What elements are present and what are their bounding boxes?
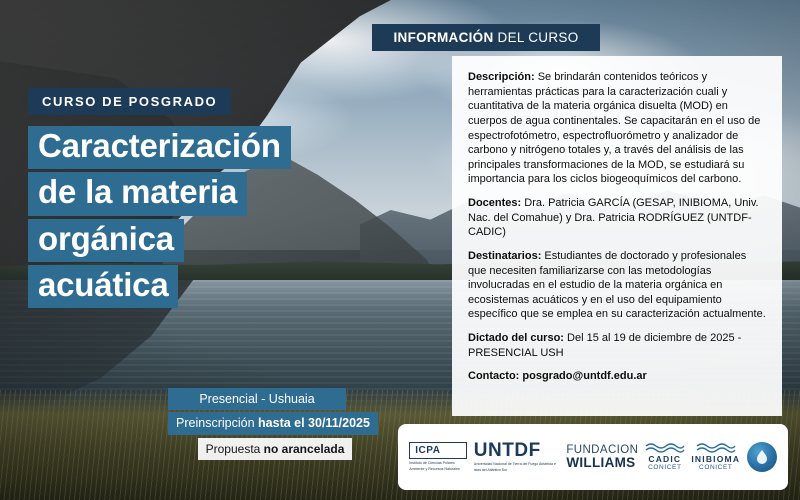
destinatarios-paragraph: Destinatarios: Estudiantes de doctorado … bbox=[468, 249, 766, 322]
dictado-paragraph: Dictado del curso: Del 15 al 19 de dicie… bbox=[468, 331, 766, 360]
wave-icon-2 bbox=[696, 442, 736, 453]
logo-cadic-name: CADIC bbox=[645, 454, 685, 464]
logo-icpa-subtitle: Instituto de Ciencias Polares Ambiente y… bbox=[409, 461, 467, 471]
info-header-rest: DEL CURSO bbox=[498, 30, 579, 45]
logo-cadic-sub: CONICET bbox=[645, 464, 685, 472]
logo-inibioma-conicet: INIBIOMA CONICET bbox=[691, 442, 740, 472]
poster-title: Caracterización de la materia orgánica a… bbox=[28, 126, 368, 311]
course-info-panel: Descripción: Se brindarán contenidos teó… bbox=[452, 56, 782, 416]
kicker-label: CURSO DE POSGRADO bbox=[28, 88, 231, 115]
badge-propuesta: Propuesta no arancelada bbox=[198, 438, 352, 460]
sponsor-logo-strip: ICPA Instituto de Ciencias Polares Ambie… bbox=[398, 424, 788, 490]
circular-emblem-icon bbox=[747, 442, 777, 472]
contacto-paragraph: Contacto: posgrado@untdf.edu.ar bbox=[468, 369, 766, 384]
logo-circular-emblem bbox=[747, 442, 777, 472]
info-header-strong: INFORMACIÓN bbox=[393, 30, 493, 45]
logo-icpa-acronym: ICPA bbox=[409, 442, 467, 459]
propuesta-prefix: Propuesta bbox=[206, 442, 264, 456]
badge-preinscripcion: Preinscripción hasta el 30/11/2025 bbox=[168, 412, 378, 435]
badge-presencial: Presencial - Ushuaia bbox=[168, 388, 346, 410]
info-header-bar: INFORMACIÓN DEL CURSO bbox=[372, 24, 600, 51]
dictado-label: Dictado del curso: bbox=[468, 332, 564, 344]
title-line-2: de la materia bbox=[28, 172, 247, 215]
destinatarios-label: Destinatarios: bbox=[468, 250, 541, 262]
logo-icpa: ICPA Instituto de Ciencias Polares Ambie… bbox=[409, 442, 467, 471]
preinscripcion-prefix: Preinscripción bbox=[176, 416, 258, 430]
descripcion-text: Se brindarán contenidos teóricos y herra… bbox=[468, 71, 760, 185]
descripcion-label: Descripción: bbox=[468, 71, 535, 83]
logo-fw-line2: WILLIAMS bbox=[566, 456, 638, 470]
course-poster: INFORMACIÓN DEL CURSO Descripción: Se br… bbox=[0, 0, 800, 500]
logo-inibioma-name: INIBIOMA bbox=[691, 454, 740, 464]
droplet-icon bbox=[753, 448, 771, 466]
title-line-4: acuática bbox=[28, 265, 178, 308]
docentes-paragraph: Docentes: Dra. Patricia GARCÍA (GESAP, I… bbox=[468, 196, 766, 240]
contacto-label: Contacto: bbox=[468, 370, 519, 382]
preinscripcion-date: hasta el 30/11/2025 bbox=[258, 416, 370, 430]
logo-untdf-acronym: UNTDF bbox=[474, 441, 560, 460]
contacto-email: posgrado@untdf.edu.ar bbox=[519, 370, 646, 382]
propuesta-strong: no arancelada bbox=[264, 442, 345, 456]
logo-fundacion-williams: FUNDACION WILLIAMS bbox=[566, 444, 638, 470]
logo-untdf: UNTDF Universidad Nacional de Tierra del… bbox=[474, 441, 560, 473]
descripcion-paragraph: Descripción: Se brindarán contenidos teó… bbox=[468, 70, 766, 187]
title-line-3: orgánica bbox=[28, 219, 184, 262]
docentes-label: Docentes: bbox=[468, 197, 521, 209]
title-line-1: Caracterización bbox=[28, 126, 291, 169]
logo-inibioma-sub: CONICET bbox=[691, 464, 740, 472]
wave-icon bbox=[645, 442, 685, 453]
logo-untdf-subtitle: Universidad Nacional de Tierra del Fuego… bbox=[474, 462, 560, 473]
logo-cadic-conicet: CADIC CONICET bbox=[645, 442, 685, 472]
